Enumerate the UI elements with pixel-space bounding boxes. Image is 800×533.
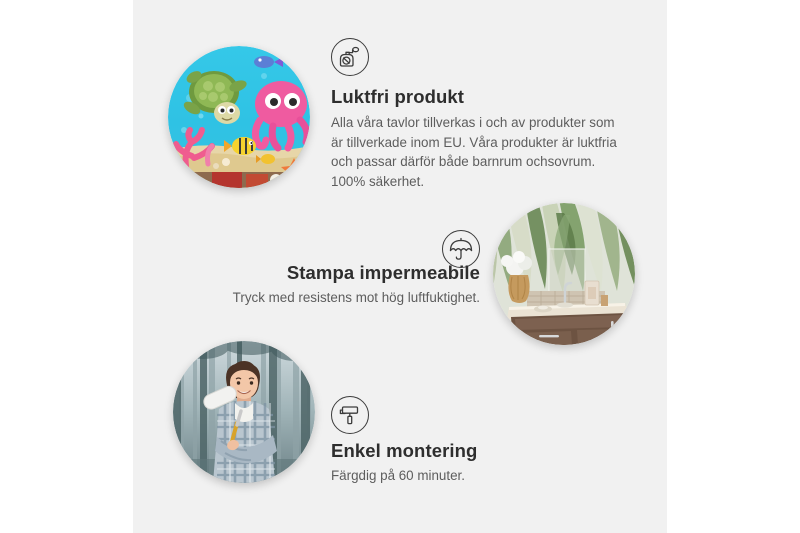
feature-easy-install-text: Enkel montering Färgdig på 60 minuter.: [331, 440, 611, 486]
feature-description: Färgdig på 60 minuter.: [331, 466, 611, 486]
no-odour-perfume-icon: [331, 38, 369, 76]
feature-odourless-text: Luktfri produkt Alla våra tavlor tillver…: [331, 86, 627, 191]
installer-forest-photo: [173, 341, 315, 483]
feature-waterproof-text: Stampa impermeabile Tryck med resistens …: [190, 262, 480, 308]
feature-title: Stampa impermeabile: [190, 262, 480, 284]
bathroom-mural-photo: [493, 203, 635, 345]
feature-description: Alla våra tavlor tillverkas i och av pro…: [331, 113, 627, 191]
underwater-cartoon-photo: [168, 46, 310, 188]
feature-title: Luktfri produkt: [331, 86, 627, 108]
promo-page: Luktfri produkt Alla våra tavlor tillver…: [0, 0, 800, 533]
feature-title: Enkel montering: [331, 440, 611, 462]
paint-roller-icon: [331, 396, 369, 434]
feature-description: Tryck med resistens mot hög luftfuktighe…: [190, 288, 480, 308]
